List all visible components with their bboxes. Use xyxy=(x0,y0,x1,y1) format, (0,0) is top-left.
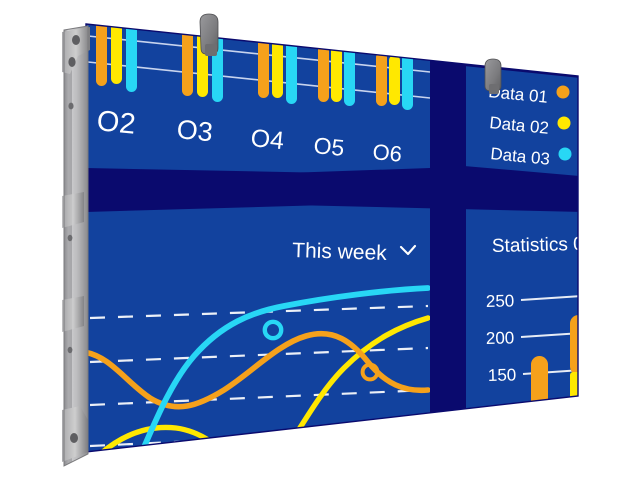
statistics-bar-1 xyxy=(531,356,548,430)
legend-swatch-data-03 xyxy=(559,148,572,161)
screen-face: O2 O3 O4 O5 O6 Data 01 Data 02 Data 03 xyxy=(84,0,595,470)
legend-card: Data 01 Data 02 Data 03 xyxy=(464,66,580,176)
bar-group-o2 xyxy=(96,0,137,92)
bar-label-o4: O4 xyxy=(249,124,285,155)
clip-foot xyxy=(205,44,217,56)
rail-edge-shadow xyxy=(64,30,72,466)
clip-foot xyxy=(489,84,499,94)
bolt-hole xyxy=(68,347,73,353)
legend-swatch-data-01 xyxy=(557,86,570,99)
bolt-hole xyxy=(72,35,80,45)
top-mount-clip-left xyxy=(200,14,218,56)
y-tick-250: 250 xyxy=(486,291,515,311)
y-tick-150: 150 xyxy=(488,365,517,385)
bar-group-o6 xyxy=(376,52,413,110)
rail-mid-flange xyxy=(62,192,84,228)
rail-mid-flange-2 xyxy=(62,296,84,332)
bar-label-o2: O2 xyxy=(95,105,137,141)
led-panel-render: O2 O3 O4 O5 O6 Data 01 Data 02 Data 03 xyxy=(0,0,640,480)
top-mount-clip-right xyxy=(485,59,501,94)
top-bar-chart-card: O2 O3 O4 O5 O6 xyxy=(86,0,430,180)
legend-swatch-data-02 xyxy=(558,117,571,130)
statistics-title: Statistics 03 xyxy=(492,234,595,257)
line-chart-card: This week xyxy=(84,202,430,470)
bar-label-o5: O5 xyxy=(313,132,346,161)
bar-group-o4 xyxy=(258,28,297,104)
statistics-card: Statistics 03 250 200 150 xyxy=(464,200,595,430)
bar-label-o3: O3 xyxy=(175,114,214,147)
bolt-hole xyxy=(68,235,73,241)
timerange-dropdown-label: This week xyxy=(292,239,388,265)
bolt-hole xyxy=(68,57,75,67)
bolt-hole xyxy=(70,433,78,443)
product-photo-stage: O2 O3 O4 O5 O6 Data 01 Data 02 Data 03 xyxy=(0,0,640,480)
side-mount-rail xyxy=(62,26,90,466)
bolt-hole xyxy=(68,103,73,110)
bar-label-o6: O6 xyxy=(372,139,404,167)
y-tick-200: 200 xyxy=(486,328,515,348)
